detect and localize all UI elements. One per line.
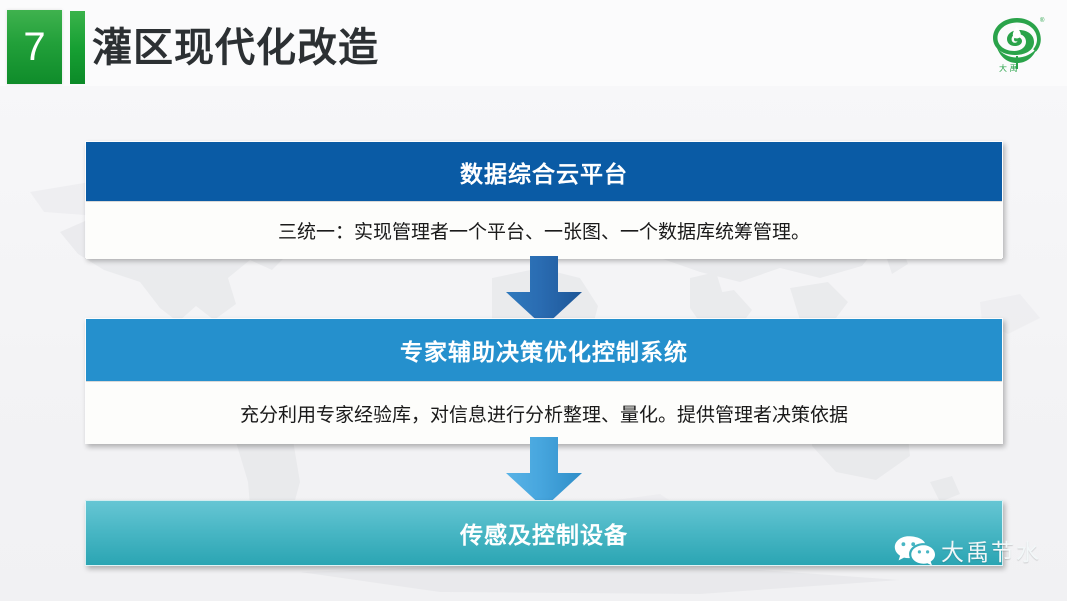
watermark-label: 大禹节水 — [941, 533, 1041, 567]
wechat-icon — [893, 534, 935, 566]
title-accent-bar — [70, 11, 85, 84]
flow-box-2-heading: 专家辅助决策优化控制系统 — [86, 319, 1002, 381]
flow-box-3-heading: 传感及控制设备 — [86, 501, 1002, 565]
slide-header: 7 灌区现代化改造 大 禹 ® — [0, 0, 1067, 86]
page-title: 灌区现代化改造 — [92, 12, 379, 84]
slide-canvas: 7 灌区现代化改造 大 禹 ® 数据综合云平台 三统一：实现管理者一个平台、一张… — [0, 0, 1067, 601]
logo-caption: 大 禹 — [999, 63, 1018, 73]
dayu-logo-icon: 大 禹 ® — [985, 12, 1049, 74]
wechat-watermark: 大禹节水 — [893, 528, 1053, 572]
flow-box-expert-decision-system[interactable]: 专家辅助决策优化控制系统 充分利用专家经验库，对信息进行分析整理、量化。提供管理… — [85, 318, 1003, 444]
flow-box-1-heading: 数据综合云平台 — [86, 142, 1002, 201]
flow-box-2-body: 充分利用专家经验库，对信息进行分析整理、量化。提供管理者决策依据 — [86, 381, 1002, 444]
flow-box-data-platform[interactable]: 数据综合云平台 三统一：实现管理者一个平台、一张图、一个数据库统筹管理。 — [85, 141, 1003, 258]
registered-mark: ® — [1040, 17, 1045, 24]
flow-box-sensing-control-equipment[interactable]: 传感及控制设备 — [85, 500, 1003, 566]
section-number-badge: 7 — [7, 10, 62, 84]
flow-box-1-body: 三统一：实现管理者一个平台、一张图、一个数据库统筹管理。 — [86, 201, 1002, 259]
section-number: 7 — [7, 10, 62, 84]
down-arrow-icon — [504, 437, 584, 509]
